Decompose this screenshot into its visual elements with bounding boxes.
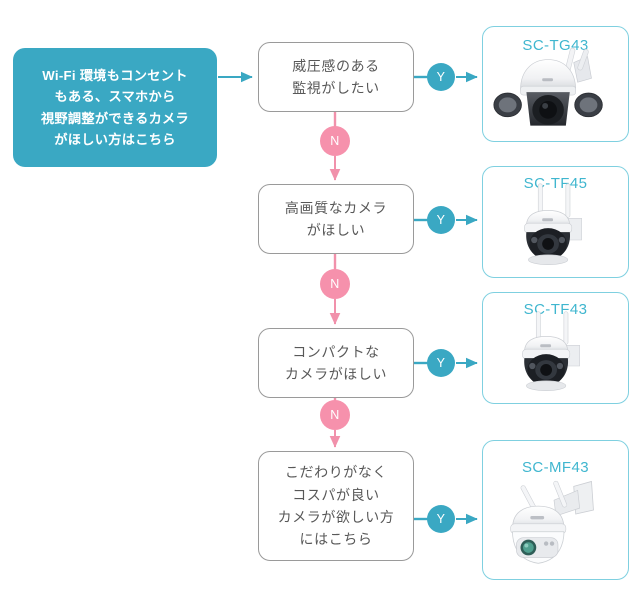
decision-1-line-1: 威圧感のある xyxy=(292,55,380,77)
decision-box-2[interactable]: 高画質なカメラ がほしい xyxy=(258,184,414,254)
decision-2-line-2: がほしい xyxy=(307,219,365,241)
product-card-1[interactable]: SC-TG43 xyxy=(482,26,629,142)
decision-3-line-2: カメラがほしい xyxy=(285,363,387,385)
decision-box-4[interactable]: こだわりがなく コスパが良い カメラが欲しい方 にはこちら xyxy=(258,451,414,561)
product-card-3[interactable]: SC-TF43 xyxy=(482,292,629,404)
decision-box-1[interactable]: 威圧感のある 監視がしたい xyxy=(258,42,414,112)
decision-4-line-1: こだわりがなく xyxy=(285,461,387,483)
camera-image-sc-mf43 xyxy=(483,441,628,579)
product-card-2[interactable]: SC-TF45 xyxy=(482,166,629,278)
decision-4-line-3: カメラが欲しい方 xyxy=(278,506,395,528)
camera-image-sc-tg43 xyxy=(483,27,628,141)
camera-image-sc-tf45 xyxy=(483,167,628,277)
yes-badge-1[interactable]: Y xyxy=(427,63,455,91)
no-badge-1[interactable]: N xyxy=(320,126,350,156)
decision-4-line-4: にはこちら xyxy=(300,528,373,550)
decision-3-line-1: コンパクトな xyxy=(292,341,380,363)
camera-image-sc-tf43 xyxy=(483,293,628,403)
decision-2-line-1: 高画質なカメラ xyxy=(285,197,387,219)
decision-1-line-2: 監視がしたい xyxy=(292,77,380,99)
no-badge-2[interactable]: N xyxy=(320,269,350,299)
intro-line-1: Wi-Fi 環境もコンセント xyxy=(42,65,187,86)
yes-badge-3[interactable]: Y xyxy=(427,349,455,377)
intro-line-3: 視野調整ができるカメラ xyxy=(41,108,189,129)
product-card-4[interactable]: SC-MF43 xyxy=(482,440,629,580)
decision-4-line-2: コスパが良い xyxy=(292,484,380,506)
no-badge-3[interactable]: N xyxy=(320,400,350,430)
yes-badge-4[interactable]: Y xyxy=(427,505,455,533)
intro-line-2: もある、スマホから xyxy=(55,86,176,107)
intro-callout: Wi-Fi 環境もコンセント もある、スマホから 視野調整ができるカメラ がほし… xyxy=(13,48,217,167)
decision-box-3[interactable]: コンパクトな カメラがほしい xyxy=(258,328,414,398)
yes-badge-2[interactable]: Y xyxy=(427,206,455,234)
intro-line-4: がほしい方はこちら xyxy=(54,129,175,150)
